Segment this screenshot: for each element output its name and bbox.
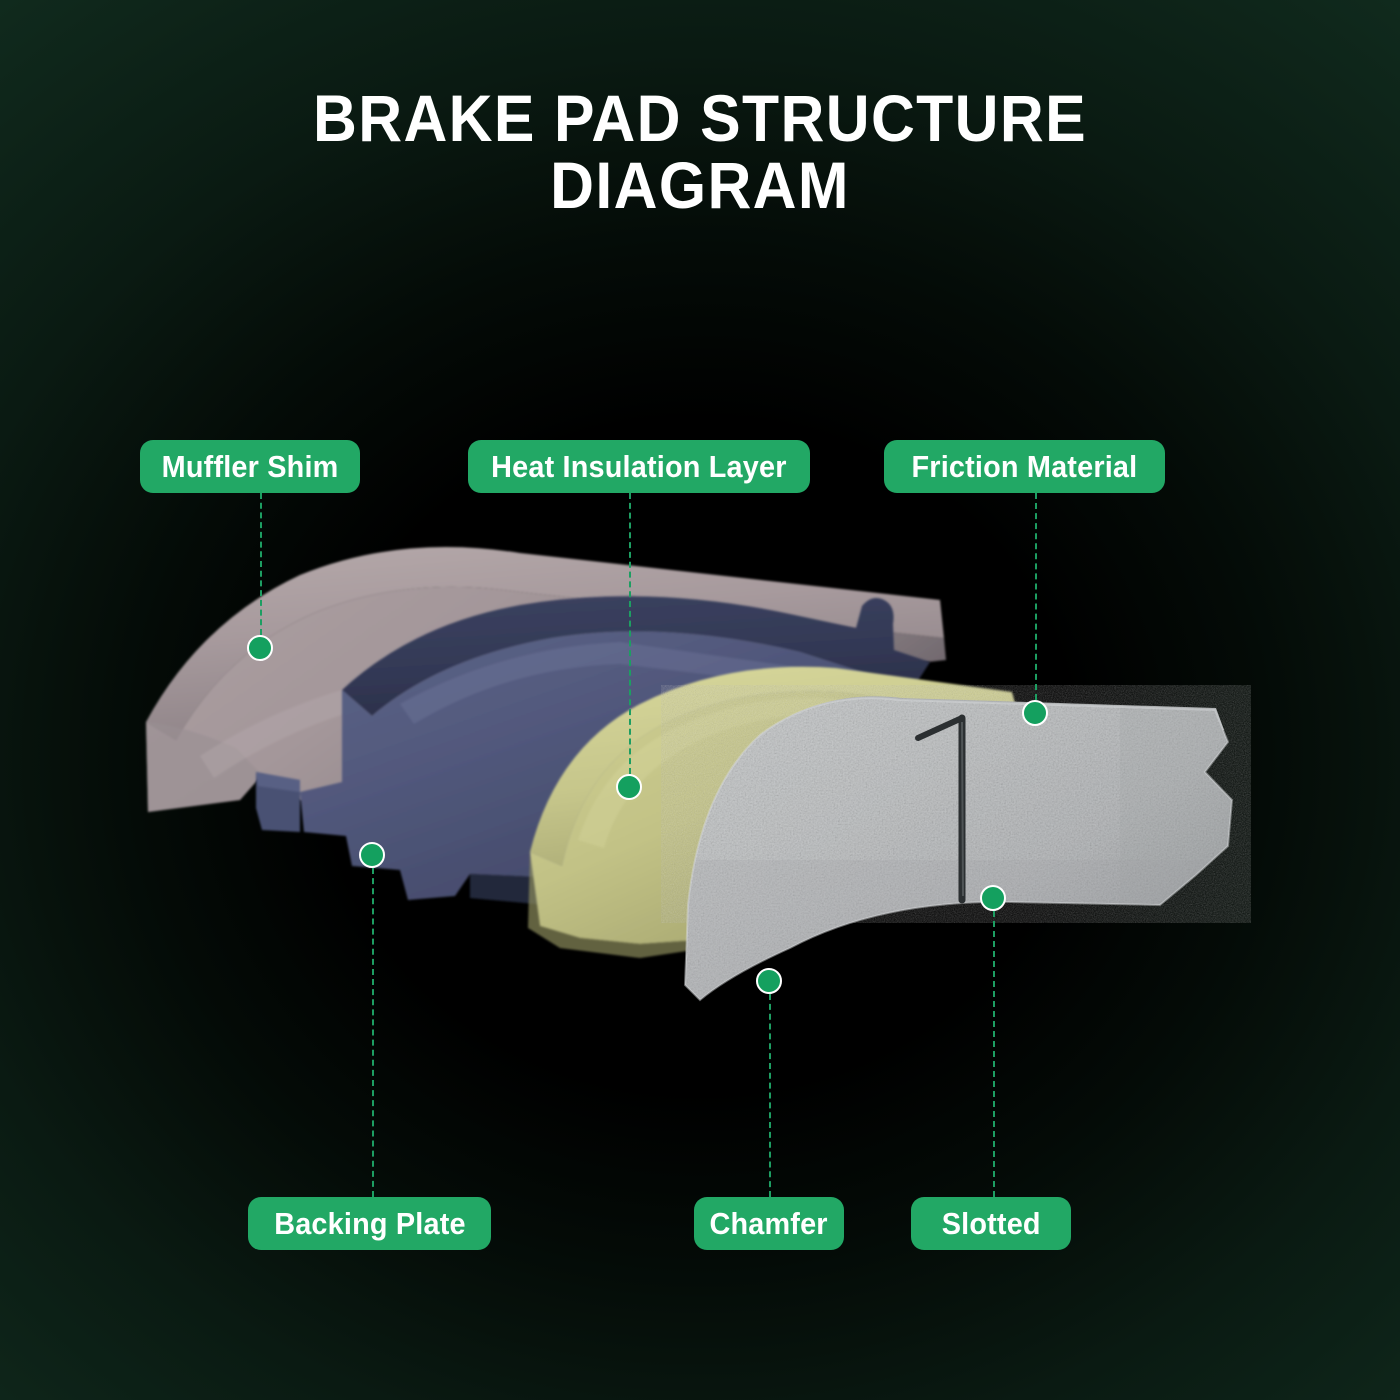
label-chamfer[interactable]: Chamfer [694, 1197, 844, 1250]
connector-line-backing-plate [372, 868, 374, 1197]
label-friction-material[interactable]: Friction Material [884, 440, 1165, 493]
connector-dot-friction-material [1022, 700, 1048, 726]
connector-line-heat-insulation [629, 493, 631, 774]
title-line-1: Brake Pad Structure [56, 88, 1344, 149]
label-text-muffler-shim: Muffler Shim [162, 449, 339, 485]
label-muffler-shim[interactable]: Muffler Shim [140, 440, 360, 493]
connector-dot-heat-insulation [616, 774, 642, 800]
label-text-heat-insulation-layer: Heat Insulation Layer [491, 449, 786, 485]
label-text-backing-plate: Backing Plate [274, 1206, 465, 1242]
page-title: Brake Pad Structure Diagram [0, 88, 1400, 215]
connector-line-muffler-shim [260, 493, 262, 635]
connector-line-slotted [993, 911, 995, 1197]
connector-line-chamfer [769, 994, 771, 1197]
connector-line-friction-material [1035, 493, 1037, 700]
part-friction-material [660, 680, 1260, 1020]
label-text-chamfer: Chamfer [710, 1206, 828, 1242]
part-heat-insulation-layer [528, 667, 1022, 958]
connector-dot-chamfer [756, 968, 782, 994]
part-muffler-shim [146, 547, 946, 812]
connector-dot-muffler-shim [247, 635, 273, 661]
part-backing-plate [256, 596, 930, 922]
title-line-2: Diagram [56, 155, 1344, 216]
diagram-canvas: Brake Pad Structure Diagram [0, 0, 1400, 1400]
label-text-friction-material: Friction Material [912, 449, 1138, 485]
label-backing-plate[interactable]: Backing Plate [248, 1197, 491, 1250]
label-text-slotted: Slotted [941, 1206, 1040, 1242]
label-slotted[interactable]: Slotted [911, 1197, 1071, 1250]
connector-dot-slotted [980, 885, 1006, 911]
connector-dot-backing-plate [359, 842, 385, 868]
label-heat-insulation-layer[interactable]: Heat Insulation Layer [468, 440, 810, 493]
